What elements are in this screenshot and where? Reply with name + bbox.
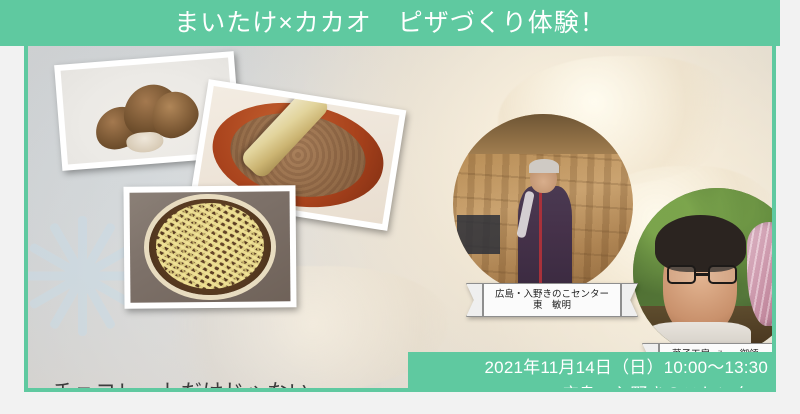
presenter-name: 東 敏明 [533, 300, 571, 311]
page-title: まいたけ×カカオ ピザづくり体験！ [0, 0, 780, 46]
headline-copy: チョコレートだけじゃない カカオを使った料理って！？ まいたけとカカオの異色のコ… [52, 318, 396, 392]
ribbon-tail-left [466, 283, 483, 317]
title-band: まいたけ×カカオ ピザづくり体験！ [0, 0, 780, 46]
portrait-miyake [633, 188, 776, 356]
nameplate-body: 広島・入野きのこセンター 東 敏明 [483, 283, 621, 317]
presenter-affiliation: 広島・入野きのこセンター [495, 289, 609, 300]
maitake-pizza-image [130, 191, 291, 302]
glasses-icon [667, 265, 738, 283]
presenter-nameplate-higashi: 広島・入野きのこセンター 東 敏明 [466, 283, 638, 317]
poster-root: まいたけ×カカオ ピザづくり体験！ [0, 0, 800, 414]
maitake-pizza-photo [123, 185, 296, 308]
event-info-box: 2021年11月14日（日）10:00〜13:30 @広島・入野きのこセンター [408, 352, 776, 392]
portrait-higashi [453, 114, 633, 294]
content-frame: 広島・入野きのこセンター 東 敏明 菓子工房mike・御領cacao 三宅 崇 … [24, 46, 776, 392]
ribbon-tail-right [621, 283, 638, 317]
event-venue: @広島・入野きのこセンター [544, 381, 768, 392]
headline-line-1: チョコレートだけじゃない [52, 378, 396, 392]
event-date-time: 2021年11月14日（日）10:00〜13:30 [485, 354, 768, 381]
